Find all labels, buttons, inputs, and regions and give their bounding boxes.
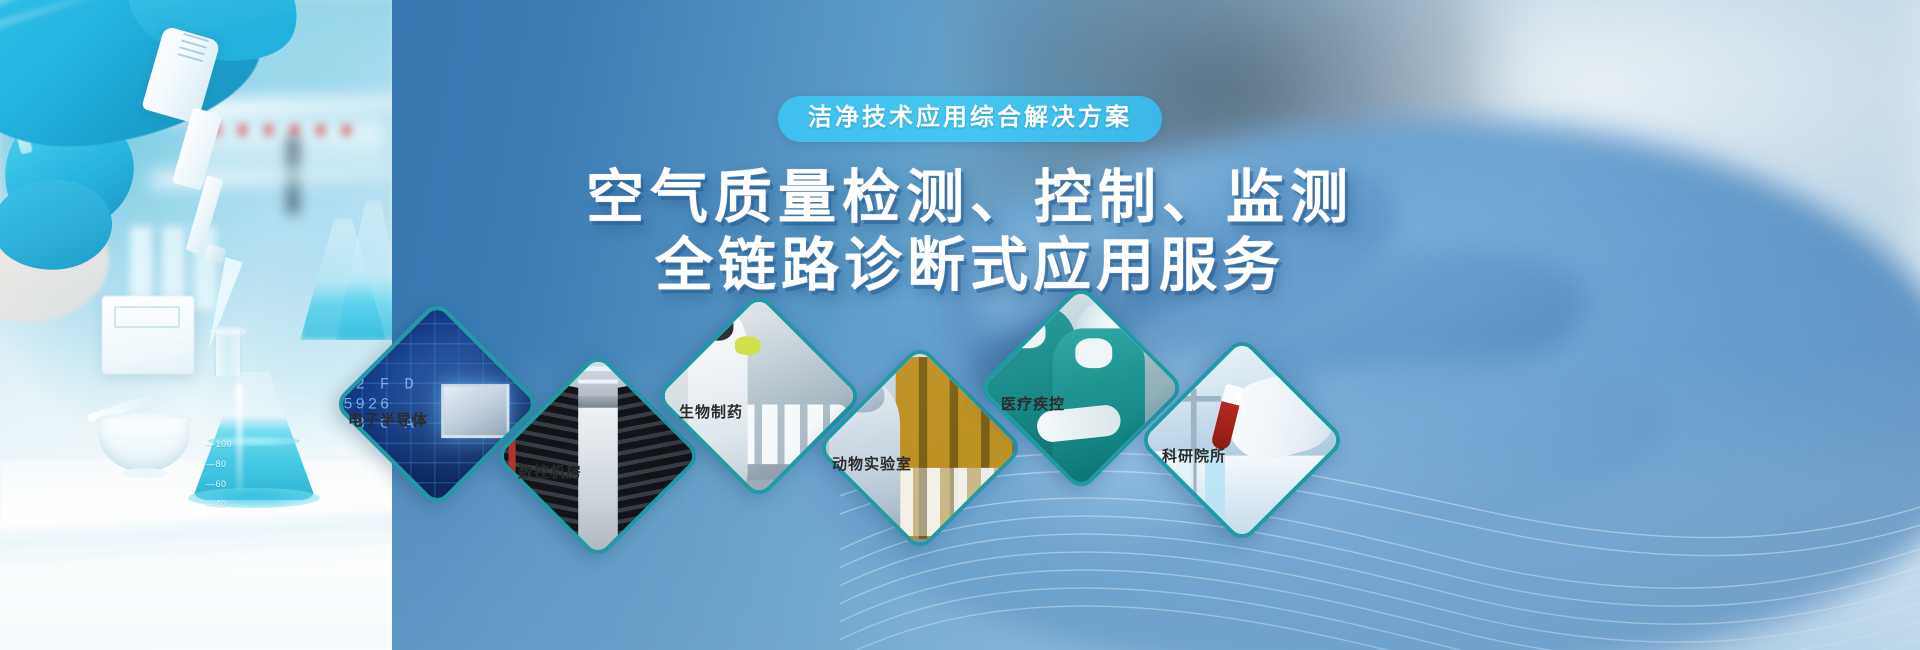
left-photo-edge-fade — [322, 0, 392, 650]
headline-line-1: 空气质量检测、控制、监测 — [470, 164, 1470, 232]
server-room-lights — [578, 367, 618, 387]
solution-badge: 洁净技术应用综合解决方案 — [778, 96, 1162, 142]
hero-text-block: 洁净技术应用综合解决方案 空气质量检测、控制、监测 全链路诊断式应用服务 — [470, 96, 1470, 300]
page-title: 空气质量检测、控制、监测 全链路诊断式应用服务 — [470, 164, 1470, 301]
sample-block-slot — [114, 306, 180, 328]
chip-die — [441, 384, 509, 438]
lab-stand-arm — [1178, 396, 1221, 402]
headline-line-2: 全链路诊断式应用服务 — [470, 232, 1470, 300]
left-lab-photo: —100—80—60—40 — [0, 0, 392, 650]
surgeon-mask-right — [1075, 338, 1113, 368]
server-room-aisle — [574, 408, 622, 555]
mortar-bowl-base — [122, 468, 168, 478]
glove-wrinkle-2 — [0, 0, 151, 40]
flask-graduation-marks: —100—80—60—40 — [206, 434, 240, 500]
hero-banner: —100—80—60—40 洁净技术应用综合解决方案 空气质量检测、控制、监测 … — [0, 0, 1920, 650]
worker-glove — [735, 336, 761, 354]
flask-lip — [209, 326, 247, 337]
